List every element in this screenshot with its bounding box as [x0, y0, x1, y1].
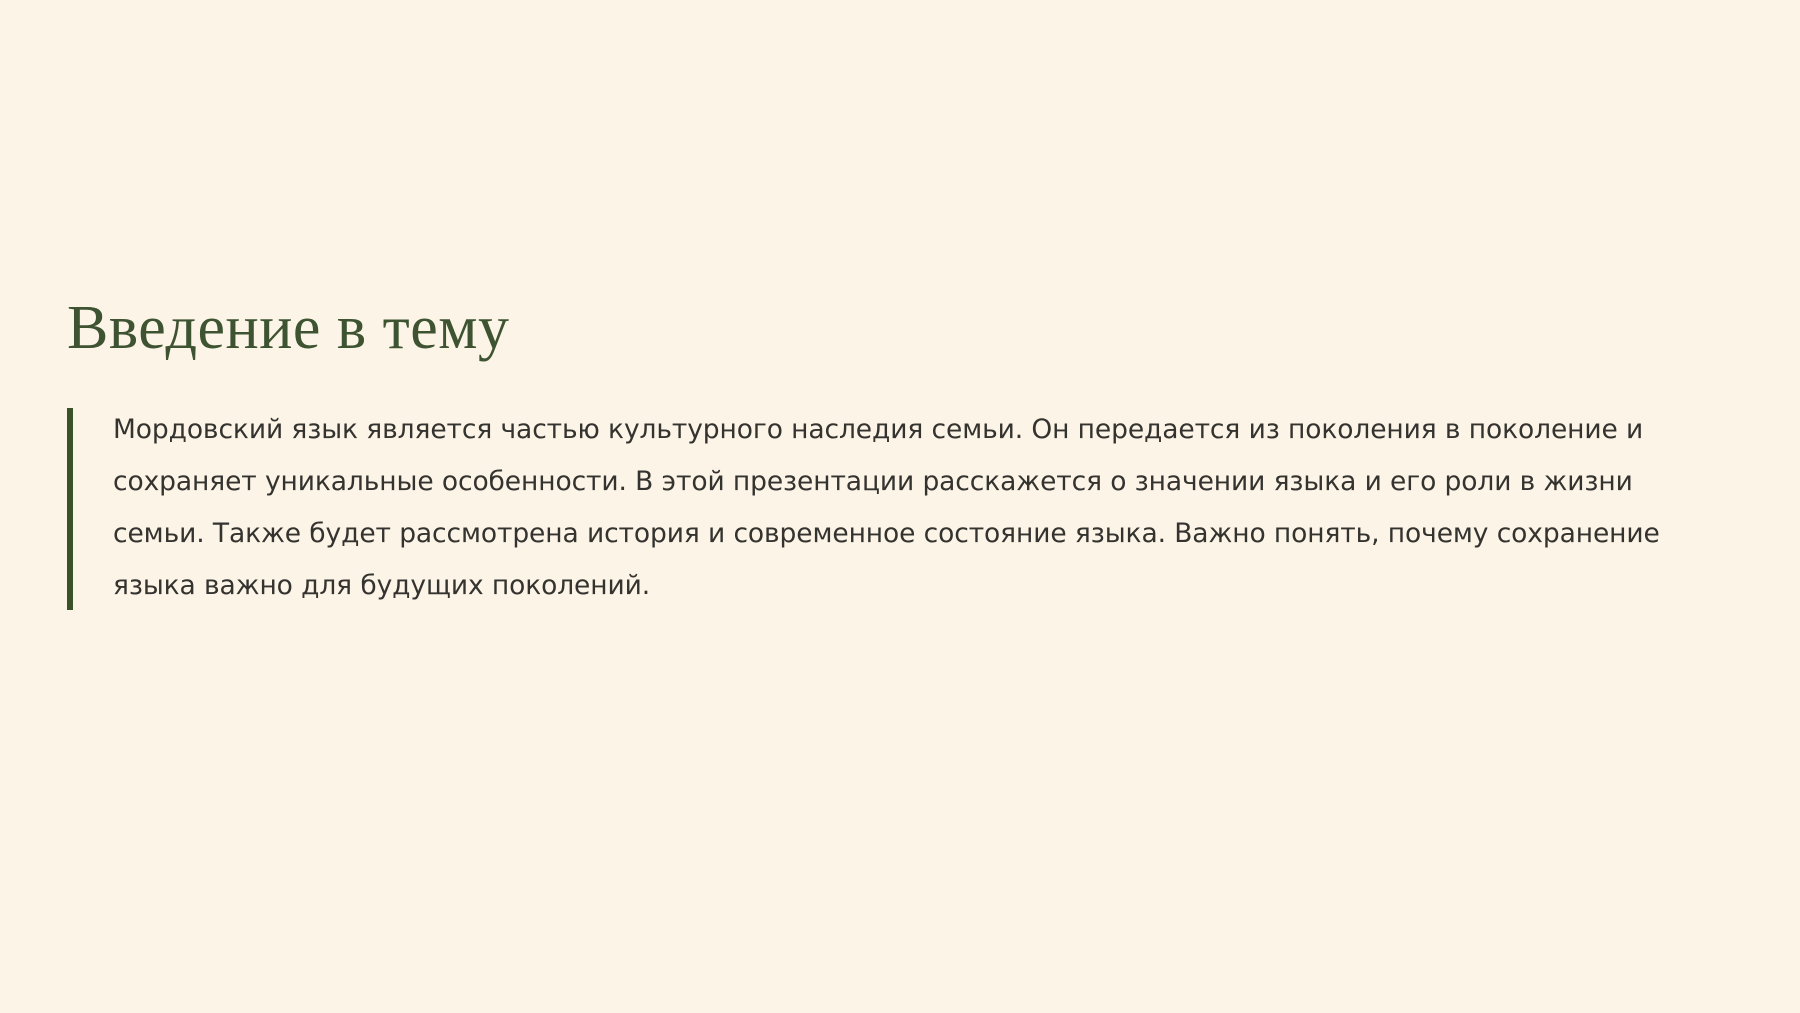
- presentation-slide: Введение в тему Мордовский язык является…: [0, 0, 1800, 1013]
- page-title: Введение в тему: [67, 295, 1727, 362]
- body-quote-block: Мордовский язык является частью культурн…: [67, 404, 1727, 612]
- body-paragraph: Мордовский язык является частью культурн…: [113, 404, 1727, 612]
- slide-content: Введение в тему Мордовский язык является…: [67, 295, 1727, 612]
- accent-bar: [67, 408, 73, 610]
